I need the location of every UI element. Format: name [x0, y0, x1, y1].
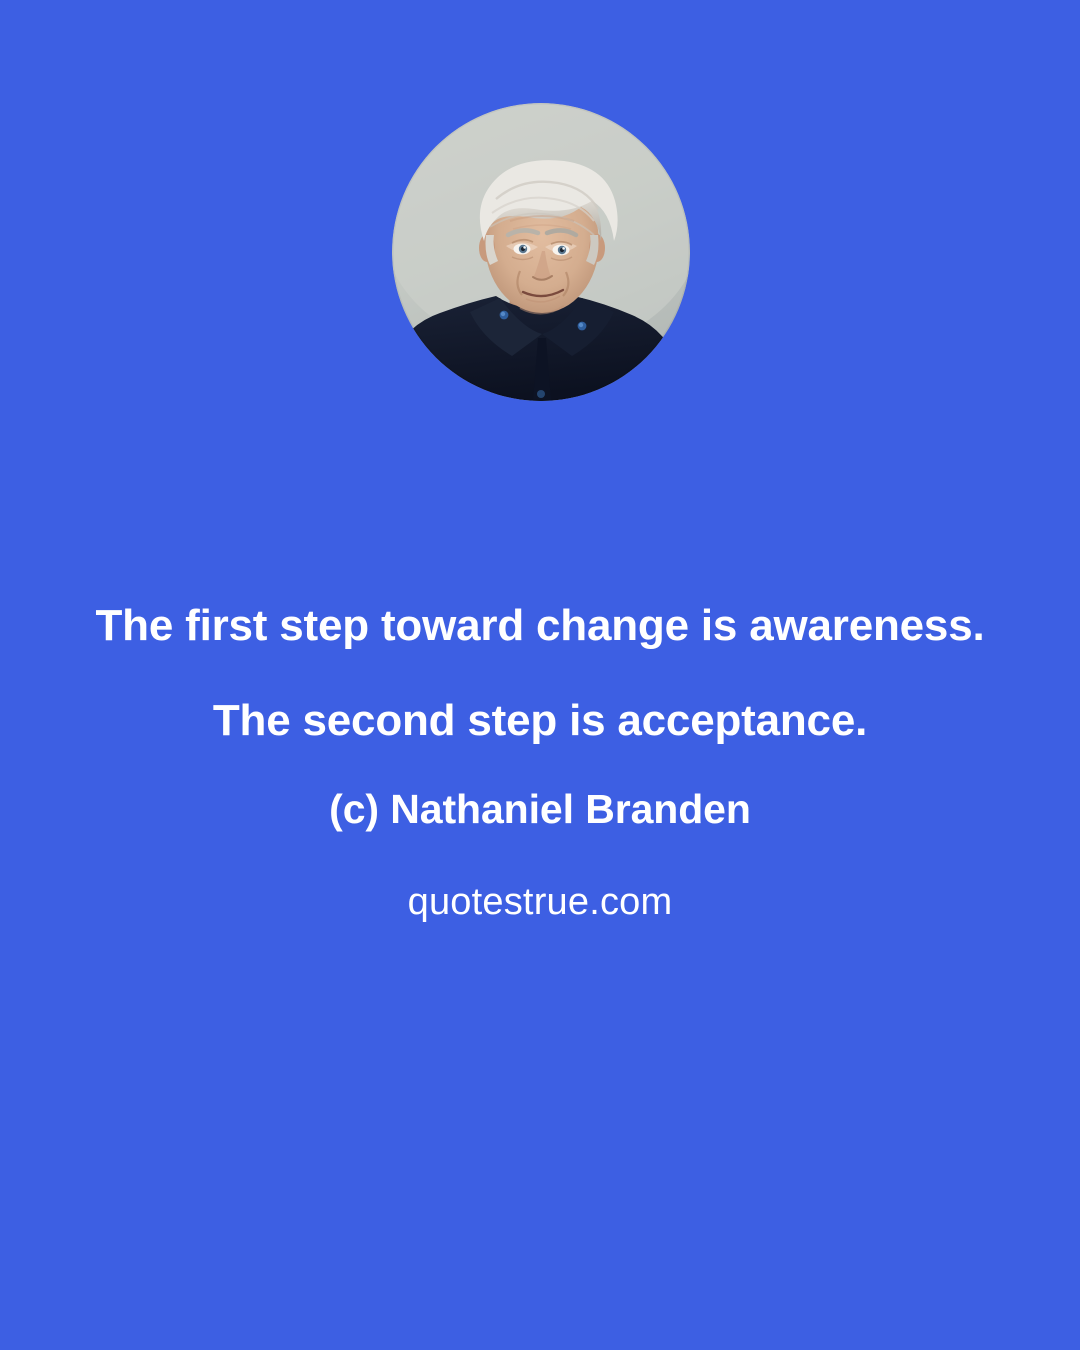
quote-text: The first step toward change is awarenes…	[0, 578, 1080, 768]
quote-line-2: The second step is acceptance.	[0, 673, 1080, 768]
website-url[interactable]: quotestrue.com	[0, 876, 1080, 928]
portrait-illustration	[392, 103, 690, 401]
quote-attribution: (c) Nathaniel Branden	[0, 783, 1080, 835]
quote-line-1: The first step toward change is awarenes…	[0, 578, 1080, 673]
quote-card: The first step toward change is awarenes…	[0, 0, 1080, 1350]
author-portrait-avatar	[392, 103, 690, 401]
